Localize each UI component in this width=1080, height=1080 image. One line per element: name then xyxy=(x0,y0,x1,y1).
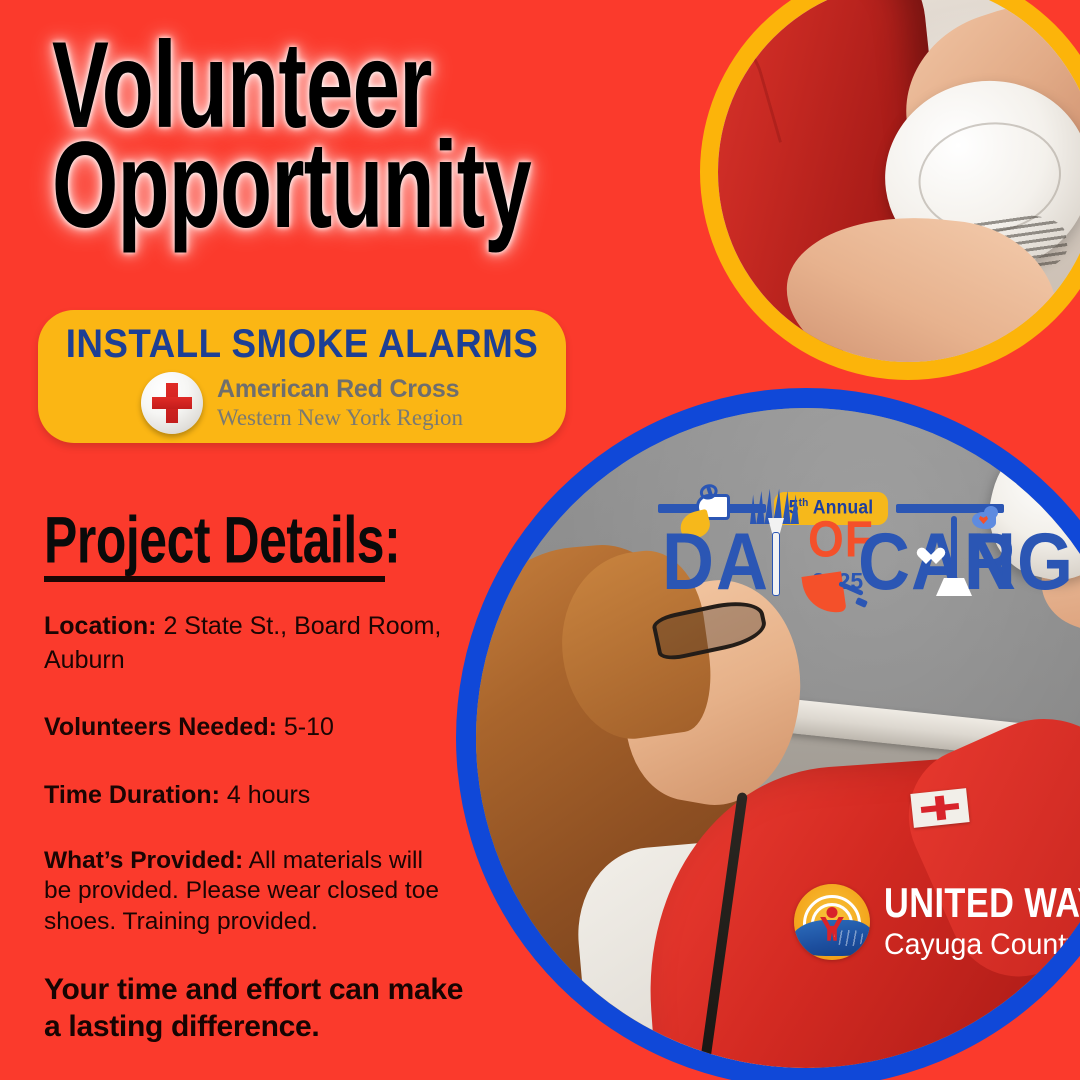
rake-icon xyxy=(750,488,802,596)
org-name: American Red Cross xyxy=(217,376,463,404)
detail-row-provided: What’s Provided: All materials will be p… xyxy=(44,846,456,937)
closing-statement: Your time and effort can make a lasting … xyxy=(44,972,474,1045)
install-smoke-alarms-banner: INSTALL SMOKE ALARMS American Red Cross … xyxy=(38,310,566,443)
detail-label-provided: What’s Provided: xyxy=(44,847,243,874)
detail-value-duration: 4 hours xyxy=(220,781,310,809)
logo-word-caring-tail: NG xyxy=(964,522,1074,603)
detail-row-volunteers: Volunteers Needed: 5-10 xyxy=(44,711,456,745)
project-details-list: Location: 2 State St., Board Room, Aubur… xyxy=(44,610,456,937)
detail-row-duration: Time Duration: 4 hours xyxy=(44,779,456,813)
headline-line-2: Opportunity xyxy=(52,128,544,246)
uw-person-head xyxy=(827,907,838,918)
smoke-alarm-photo-circle xyxy=(700,0,1080,380)
broom-handle xyxy=(951,516,957,580)
day-of-caring-logo: 5th Annual DA OF 2025 xyxy=(658,470,1004,630)
united-way-title: UNITED WAY xyxy=(884,883,1080,924)
heart-icon xyxy=(926,548,946,566)
bird-icon xyxy=(970,506,1000,532)
paint-roller-icon xyxy=(804,574,866,624)
page-title: Volunteer Opportunity xyxy=(52,28,652,228)
detail-label-volunteers: Volunteers Needed: xyxy=(44,713,277,741)
united-way-wordmark: UNITED WAY Cayuga County xyxy=(884,884,1080,960)
united-way-subtitle: Cayuga County xyxy=(884,930,1080,960)
day-of-caring-photo-circle: 5th Annual DA OF 2025 xyxy=(456,388,1080,1080)
united-way-logo: UNITED WAY Cayuga County xyxy=(794,884,1080,960)
red-cross-org-block: American Red Cross Western New York Regi… xyxy=(38,372,566,434)
org-region: Western New York Region xyxy=(217,405,463,430)
red-cross-names: American Red Cross Western New York Regi… xyxy=(217,376,463,431)
roller-pad xyxy=(801,571,846,616)
banner-title: INSTALL SMOKE ALARMS xyxy=(59,310,545,367)
smoke-alarm-photo xyxy=(718,0,1080,362)
red-cross-icon xyxy=(141,372,203,434)
details-heading-text: Project Details: xyxy=(44,508,400,574)
project-details-heading: Project Details: xyxy=(44,508,458,582)
mailbox-flag xyxy=(706,486,714,500)
detail-row-location: Location: 2 State St., Board Room, Aubur… xyxy=(44,610,456,677)
detail-value-volunteers: 5-10 xyxy=(277,713,334,741)
detail-label-duration: Time Duration: xyxy=(44,781,220,809)
uw-hand-fingers xyxy=(834,930,864,946)
vest-pocket xyxy=(718,28,782,168)
red-cross-patch-icon xyxy=(910,788,969,828)
united-way-hand-icon xyxy=(794,884,870,960)
rake-handle xyxy=(772,532,780,596)
detail-label-location: Location: xyxy=(44,612,157,640)
volunteer-opportunity-poster: 5th Annual DA OF 2025 xyxy=(0,0,1080,1080)
day-of-caring-photo: 5th Annual DA OF 2025 xyxy=(476,408,1080,1068)
